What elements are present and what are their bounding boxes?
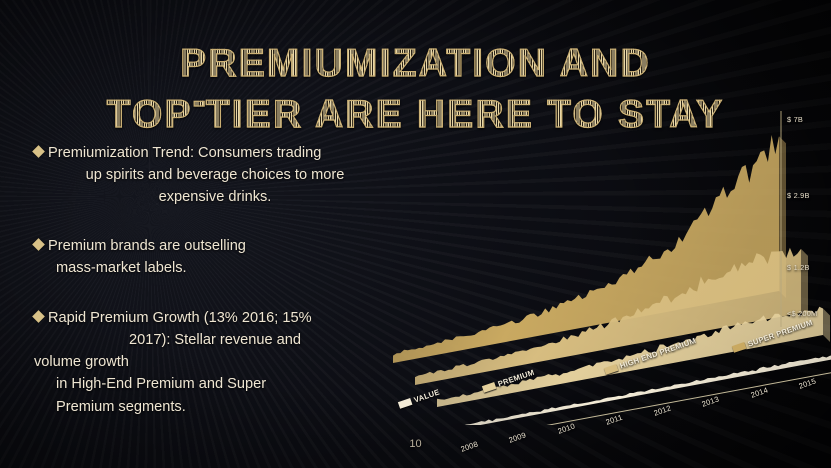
list-item: Premium brands are outselling mass-marke… [34,235,396,279]
title-line-2-text-a: TOP [107,95,193,135]
bullet-3-line-4: in High-End Premium and Super [34,373,396,395]
bullet-1-text: Premiumization Trend: Consumers trading … [34,142,396,209]
bullet-1-line-2: up spirits and beverage choices to more [34,164,396,186]
bullet-2-line-1: Premium brands are outselling [48,238,246,254]
bullet-1-line-3: expensive drinks. [34,186,396,208]
bullet-2-line-2: mass-market labels. [34,257,396,279]
y-axis-tick-label: $ 2.9B [787,191,810,200]
bullet-3-text: Rapid Premium Growth (13% 2016; 15% 2017… [34,307,396,418]
bullet-1-line-1: Premiumization Trend: Consumers trading [48,145,321,161]
y-axis-tick-label: <$ 200M [787,309,817,318]
diamond-bullet-icon [32,238,45,251]
bullet-3-line-1-wrap: Rapid Premium Growth (13% 2016; 15% [34,307,396,329]
bullet-2-line-1-wrap: Premium brands are outselling [34,235,396,257]
area-series-sidewall [823,309,830,343]
bullet-3-line-5: Premium segments. [34,396,396,418]
bullet-2-text: Premium brands are outselling mass-marke… [34,235,396,279]
title-line-2: TOP-TIER ARE HERE TO STAY [0,82,831,135]
bullet-3-line-1: Rapid Premium Growth (13% 2016; 15% [48,310,312,326]
diamond-bullet-icon [32,145,45,158]
bullet-3-line-2: 2017): Stellar revenue and [34,329,396,351]
title-line-2-text-b: TIER ARE HERE TO STAY [206,95,725,135]
area-series-super-premium [393,135,779,363]
page-number: 10 [0,438,831,450]
title-line-1-text: PREMIUMIZATION AND [180,44,651,84]
slide-canvas: PREMIUMIZATION AND TOP-TIER ARE HERE TO … [0,0,831,468]
title-line-1: PREMIUMIZATION AND [0,44,831,84]
list-item: Rapid Premium Growth (13% 2016; 15% 2017… [34,307,396,418]
list-item: Premiumization Trend: Consumers trading … [34,142,396,209]
chart-svg [385,95,831,425]
bullet-3-line-3: volume growth [34,351,396,373]
diamond-bullet-icon [32,310,45,323]
bullet-1-line-1-wrap: Premiumization Trend: Consumers trading [34,142,396,164]
y-axis-tick-label: $ 1.2B [787,263,810,272]
title-hyphen: - [193,82,206,122]
bullet-list: Premiumization Trend: Consumers trading … [34,142,396,436]
page-title: PREMIUMIZATION AND TOP-TIER ARE HERE TO … [0,44,831,136]
premiumization-area-chart: $ 7B$ 2.9B$ 1.2B<$ 200M20082009201020112… [385,95,831,425]
